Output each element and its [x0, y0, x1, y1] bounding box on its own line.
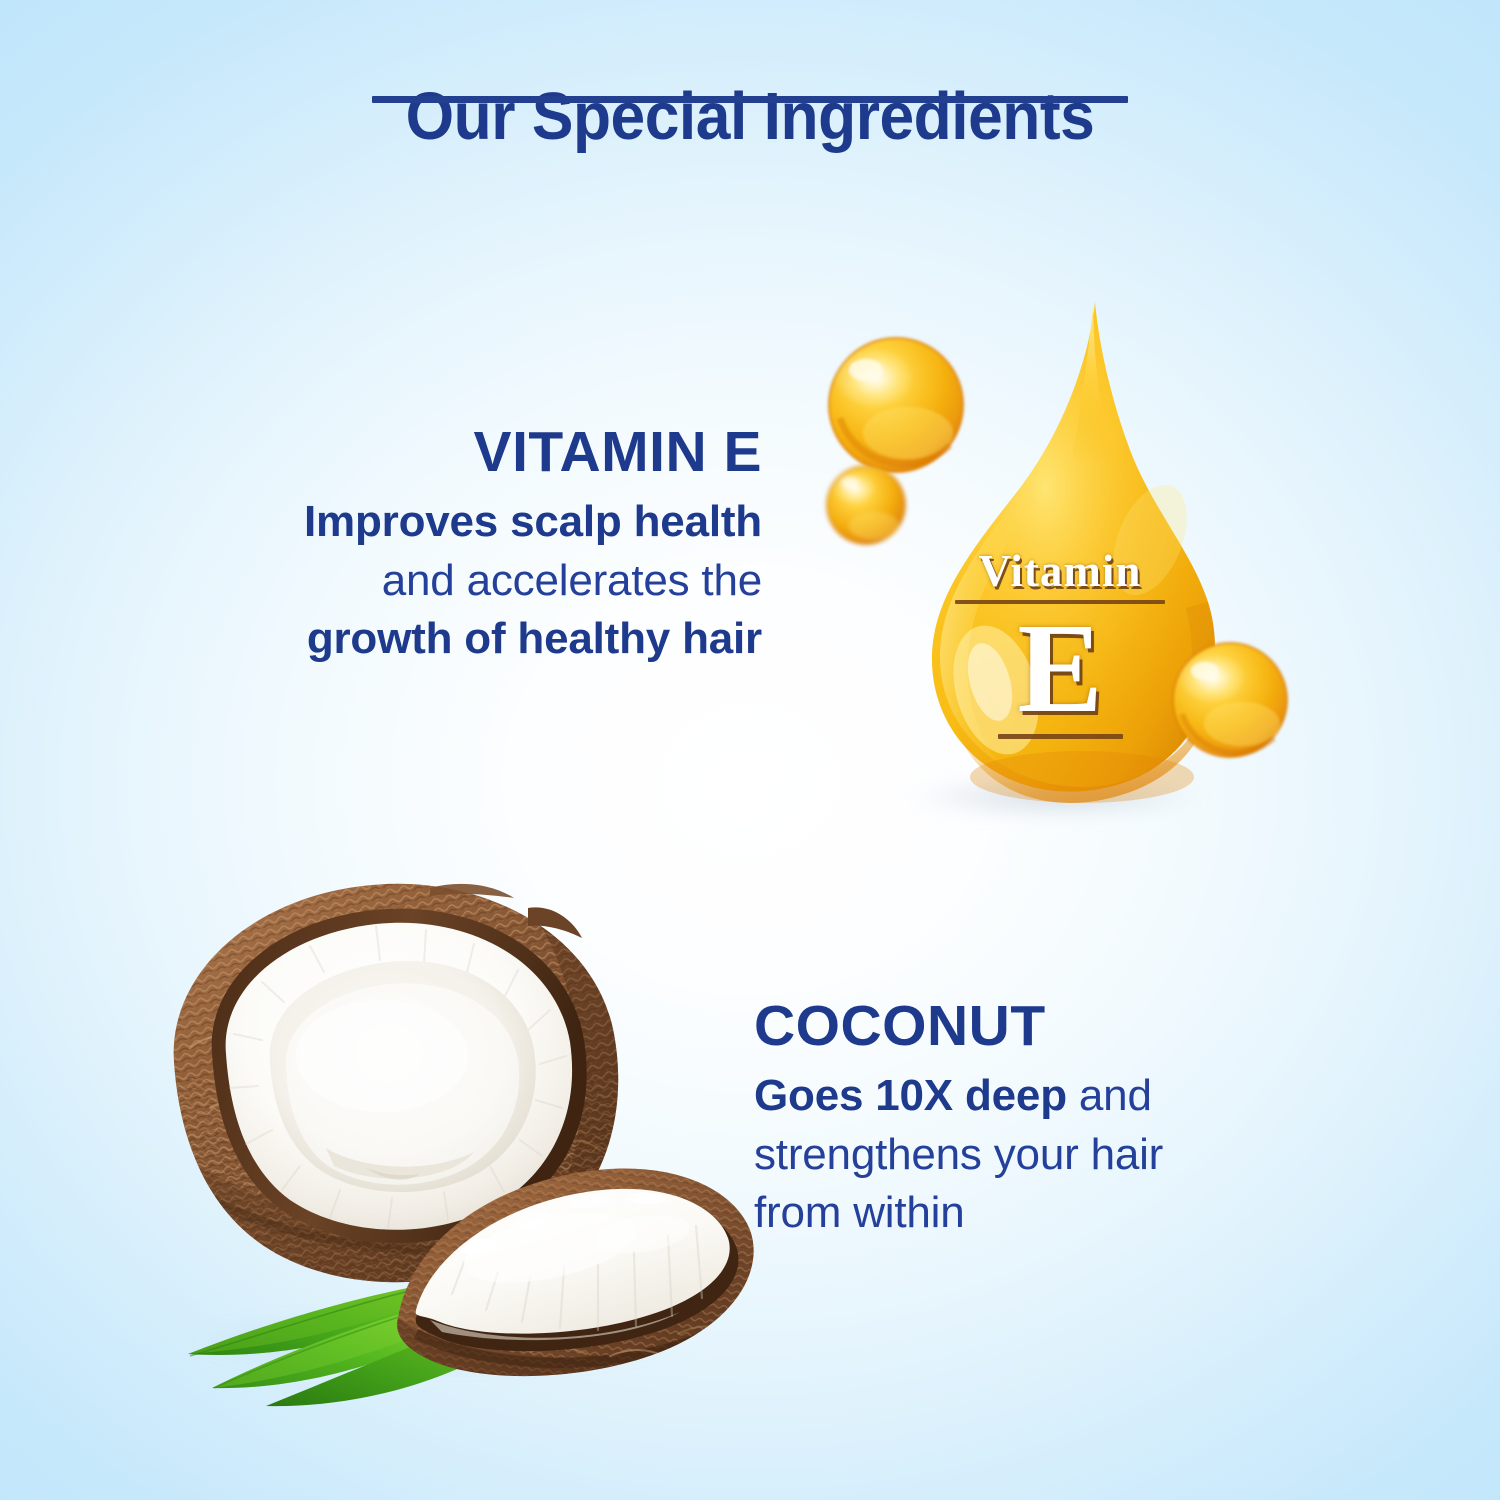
ingredient-desc-line-2: and accelerates the — [228, 552, 762, 611]
coconut-desc-line-1: Goes 10X deep and — [754, 1067, 1334, 1126]
coconut-graphic — [130, 848, 770, 1408]
oil-bubble-small-left — [827, 466, 905, 544]
ingredient-block-coconut: COCONUT Goes 10X deep and strengthens yo… — [754, 998, 1334, 1243]
droplet-graphic — [800, 290, 1320, 850]
coconut-desc-line-2: strengthens your hair — [754, 1126, 1334, 1185]
title-underline-rule — [372, 96, 1128, 103]
oil-bubble-lower-right — [1173, 643, 1287, 757]
coconut-illustration — [130, 848, 770, 1408]
header: Our Special Ingredients — [0, 82, 1500, 152]
coconut-desc-line-1-rest: and — [1067, 1071, 1152, 1120]
ingredient-desc-line-1: Improves scalp health — [228, 493, 762, 552]
coconut-desc-line-3: from within — [754, 1184, 1334, 1243]
ingredients-infographic: Our Special Ingredients VITAMIN E Improv… — [0, 0, 1500, 1500]
ingredient-heading-vitamin-e: VITAMIN E — [228, 424, 762, 481]
page-title: Our Special Ingredients — [53, 82, 1448, 152]
droplet-body — [932, 302, 1215, 803]
coconut-desc-line-1-bold: Goes 10X deep — [754, 1071, 1067, 1120]
ingredient-block-vitamin-e: VITAMIN E Improves scalp health and acce… — [228, 424, 762, 669]
oil-droplet-illustration: Vitamin E — [800, 290, 1320, 850]
ingredient-heading-coconut: COCONUT — [754, 998, 1334, 1055]
ingredient-desc-line-3: growth of healthy hair — [228, 610, 762, 669]
oil-bubble-upper-left — [829, 338, 963, 472]
